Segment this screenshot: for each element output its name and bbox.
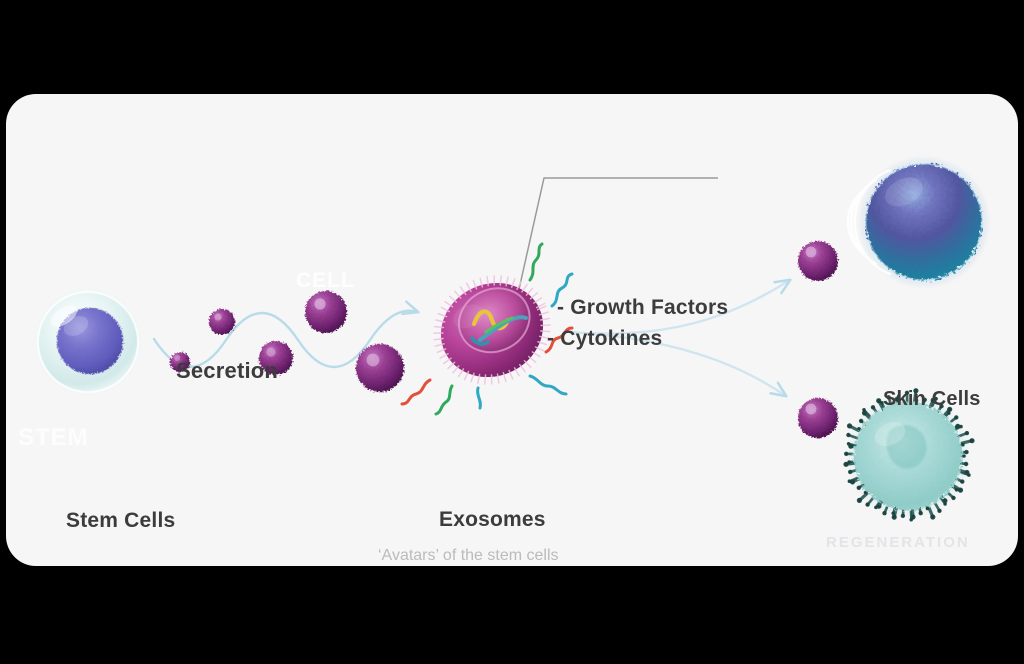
screenshot-root: STEM CELL REGENERATION Stem Cells Secret… xyxy=(0,0,1024,664)
skin-cell xyxy=(848,158,988,286)
stem-cell xyxy=(34,288,142,396)
label-skin-cells: Skin Cells xyxy=(883,388,981,411)
diagram-artwork xyxy=(6,94,1018,566)
callout-cytokines: - Cytokines xyxy=(547,327,662,351)
label-exosomes-subtitle: ‘Avatars’ of the stem cells xyxy=(378,547,559,565)
diagram-canvas: STEM CELL REGENERATION Stem Cells Secret… xyxy=(6,94,1018,566)
callout-growth-factors: - Growth Factors xyxy=(557,296,728,320)
diagram-card: STEM CELL REGENERATION Stem Cells Secret… xyxy=(6,94,1018,566)
label-stem-cells: Stem Cells xyxy=(66,509,175,533)
label-secretion: Secretion xyxy=(176,358,278,384)
delivered-particles xyxy=(798,241,838,438)
label-exosomes: Exosomes xyxy=(439,508,546,532)
